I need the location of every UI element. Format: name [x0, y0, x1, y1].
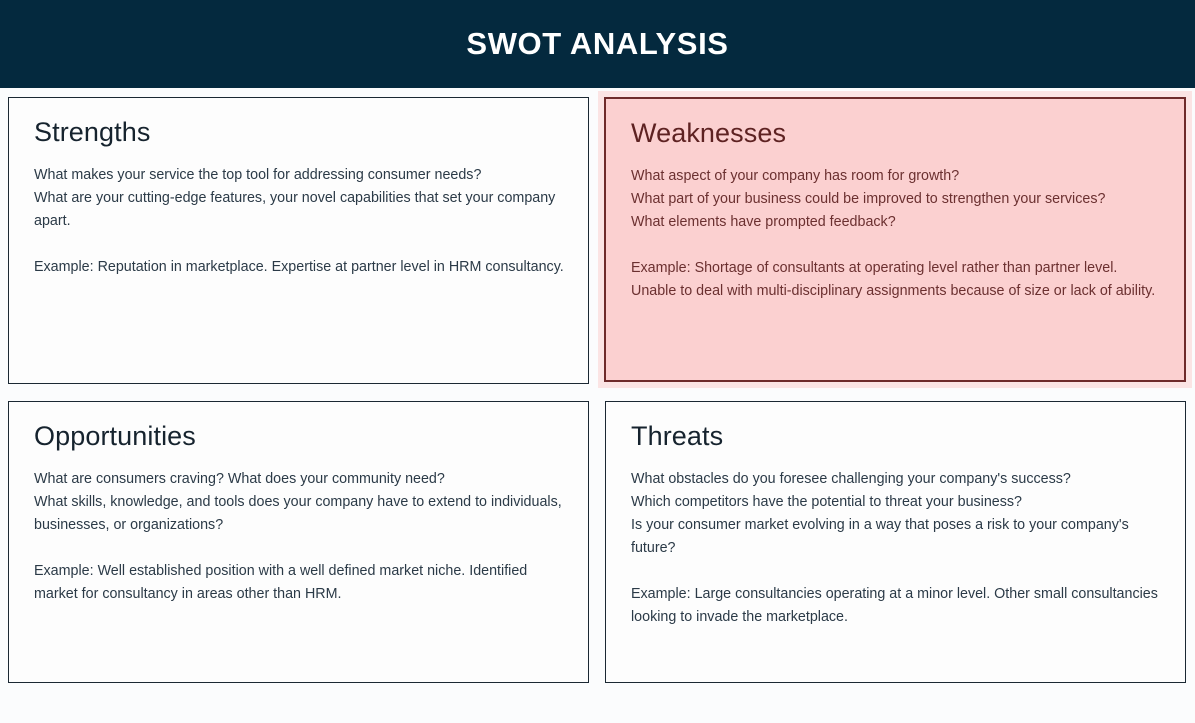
quadrant-threats[interactable]: Threats What obstacles do you foresee ch… — [605, 401, 1186, 683]
prompt-line: What makes your service the top tool for… — [34, 164, 570, 187]
prompt-list-opportunities: What are consumers craving? What does yo… — [34, 468, 570, 537]
quadrant-strengths[interactable]: Strengths What makes your service the to… — [8, 97, 589, 384]
example-text-strengths: Example: Reputation in marketplace. Expe… — [34, 256, 570, 279]
prompt-line: What are consumers craving? What does yo… — [34, 468, 570, 491]
prompt-line: Which competitors have the potential to … — [631, 491, 1167, 514]
quadrant-title-opportunities: Opportunities — [34, 422, 570, 450]
quadrant-title-strengths: Strengths — [34, 118, 570, 146]
quadrant-body-opportunities: What are consumers craving? What does yo… — [34, 468, 570, 606]
prompt-list-weaknesses: What aspect of your company has room for… — [631, 165, 1166, 234]
prompt-line: What skills, knowledge, and tools does y… — [34, 491, 570, 537]
quadrant-title-weaknesses: Weaknesses — [631, 119, 1166, 147]
quadrant-title-threats: Threats — [631, 422, 1167, 450]
prompt-line: What aspect of your company has room for… — [631, 165, 1166, 188]
prompt-line: What are your cutting-edge features, you… — [34, 187, 570, 233]
quadrant-opportunities[interactable]: Opportunities What are consumers craving… — [8, 401, 589, 683]
example-text-opportunities: Example: Well established position with … — [34, 560, 570, 606]
prompt-list-threats: What obstacles do you foresee challengin… — [631, 468, 1167, 560]
prompt-list-strengths: What makes your service the top tool for… — [34, 164, 570, 233]
example-text-threats: Example: Large consultancies operating a… — [631, 583, 1167, 629]
prompt-line: What part of your business could be impr… — [631, 188, 1166, 211]
page-title: SWOT ANALYSIS — [466, 26, 728, 62]
swot-analysis-page: SWOT ANALYSIS Strengths What makes your … — [0, 0, 1195, 723]
quadrant-weaknesses[interactable]: Weaknesses What aspect of your company h… — [604, 97, 1186, 382]
swot-grid: Strengths What makes your service the to… — [0, 88, 1195, 723]
quadrant-body-weaknesses: What aspect of your company has room for… — [631, 165, 1166, 303]
prompt-line: Is your consumer market evolving in a wa… — [631, 514, 1167, 560]
quadrant-body-threats: What obstacles do you foresee challengin… — [631, 468, 1167, 629]
page-header: SWOT ANALYSIS — [0, 0, 1195, 88]
quadrant-body-strengths: What makes your service the top tool for… — [34, 164, 570, 279]
example-text-weaknesses: Example: Shortage of consultants at oper… — [631, 257, 1166, 303]
prompt-line: What elements have prompted feedback? — [631, 211, 1166, 234]
prompt-line: What obstacles do you foresee challengin… — [631, 468, 1167, 491]
